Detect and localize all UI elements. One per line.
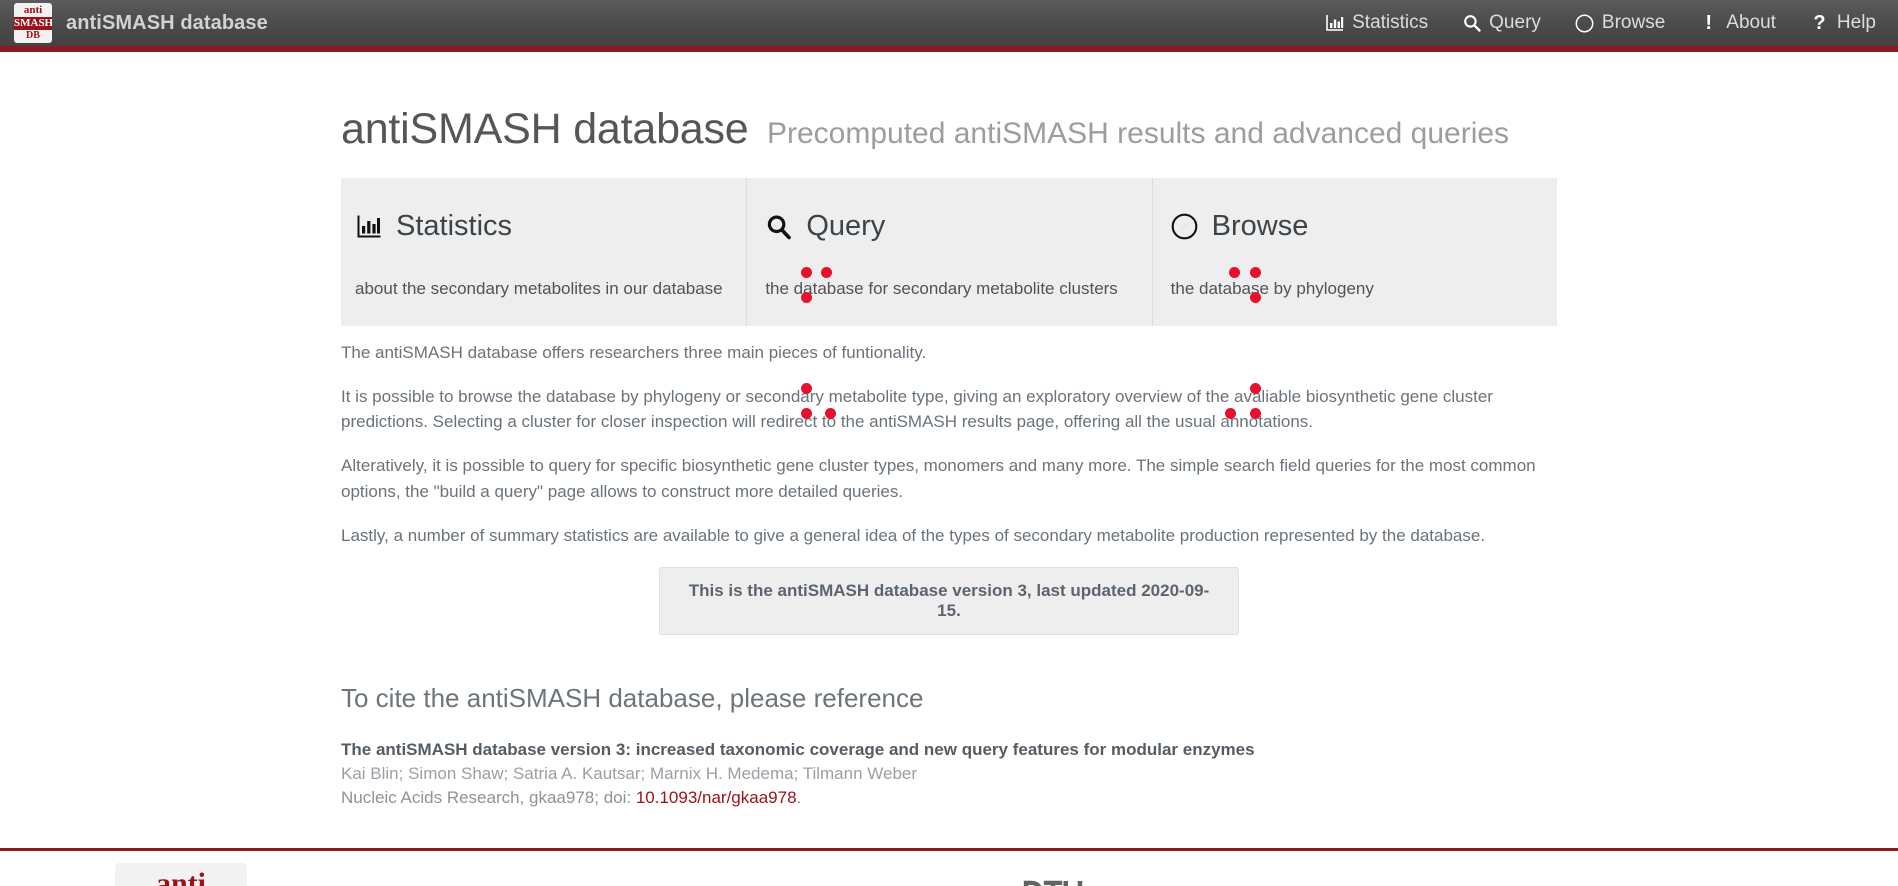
- panel-browse-title: Browse: [1212, 210, 1309, 243]
- panel-query[interactable]: Query the database for secondary metabol…: [746, 178, 1151, 326]
- nav-item-browse[interactable]: Browse: [1575, 12, 1665, 34]
- footer-logo-line-anti: anti: [115, 863, 247, 886]
- panel-browse[interactable]: Browse the database by phylogeny: [1152, 178, 1557, 326]
- citation-block: To cite the antiSMASH database, please r…: [341, 683, 1557, 808]
- citation-authors: Kai Blin; Simon Shaw; Satria A. Kautsar;…: [341, 764, 1557, 784]
- footer-partner-logos: DTU crb: [1015, 877, 1270, 886]
- crb-logo-icon: [1146, 881, 1270, 886]
- page-title: antiSMASH database: [341, 105, 749, 153]
- search-icon: [1462, 14, 1481, 33]
- citation-heading: To cite the antiSMASH database, please r…: [341, 683, 1557, 714]
- panel-query-desc: the database for secondary metabolite cl…: [765, 279, 1151, 299]
- navbar-menu: Statistics Query Browse ! About ? Help: [1325, 12, 1876, 34]
- compass-icon: [1171, 213, 1199, 241]
- nav-item-about[interactable]: ! About: [1699, 12, 1776, 34]
- panel-query-title: Query: [806, 210, 885, 243]
- navbar-brand-group: anti SMASH DB antiSMASH database: [14, 3, 268, 43]
- navbar-brand-title[interactable]: antiSMASH database: [66, 12, 268, 35]
- intro-paragraph-3: Alteratively, it is possible to query fo…: [341, 453, 1536, 503]
- content-container: antiSMASH database Precomputed antiSMASH…: [341, 52, 1557, 808]
- panel-statistics-title: Statistics: [396, 210, 512, 243]
- page-title-block: antiSMASH database Precomputed antiSMASH…: [341, 52, 1557, 170]
- antismash-db-logo[interactable]: anti SMASH DB: [14, 3, 52, 43]
- dtu-logo-text: DTU: [1022, 877, 1084, 886]
- nav-label-help: Help: [1837, 12, 1876, 34]
- page-body: antiSMASH database Precomputed antiSMASH…: [0, 52, 1898, 808]
- nav-item-query[interactable]: Query: [1462, 12, 1541, 34]
- feature-panels: Statistics about the secondary metabolit…: [341, 178, 1557, 326]
- bar-chart-icon: [1325, 14, 1344, 33]
- nav-label-statistics: Statistics: [1352, 12, 1428, 34]
- panel-query-heading: Query: [765, 210, 1151, 243]
- intro-paragraph-2: It is possible to browse the database by…: [341, 384, 1536, 434]
- nav-label-about: About: [1726, 12, 1776, 34]
- footer-antismash-logo[interactable]: anti SMASH: [115, 863, 247, 886]
- bar-chart-icon: [355, 213, 383, 241]
- panel-browse-heading: Browse: [1171, 210, 1557, 243]
- logo-line-db: DB: [26, 30, 40, 42]
- crb-logo[interactable]: crb: [1146, 881, 1270, 886]
- dtu-logo[interactable]: DTU: [1015, 877, 1090, 886]
- footer-inner: anti SMASH If you have found the antiSMA…: [109, 851, 1789, 886]
- panel-statistics-heading: Statistics: [355, 210, 746, 243]
- intro-paragraph-1: The antiSMASH database offers researcher…: [341, 340, 1536, 365]
- nav-item-statistics[interactable]: Statistics: [1325, 12, 1428, 34]
- question-mark-icon: ?: [1810, 14, 1829, 33]
- doi-link[interactable]: 10.1093/nar/gkaa978: [636, 788, 797, 807]
- citation-journal-prefix: Nucleic Acids Research, gkaa978; doi:: [341, 788, 636, 807]
- nav-label-query: Query: [1489, 12, 1541, 34]
- feature-panels-wrapper: Statistics about the secondary metabolit…: [341, 178, 1557, 326]
- logo-line-smash: SMASH: [14, 17, 52, 30]
- citation-paper-title: The antiSMASH database version 3: increa…: [341, 740, 1557, 760]
- panel-browse-desc: the database by phylogeny: [1171, 279, 1557, 299]
- citation-journal: Nucleic Acids Research, gkaa978; doi: 10…: [341, 788, 1557, 808]
- logo-line-anti: anti: [24, 4, 42, 17]
- exclamation-icon: !: [1699, 14, 1718, 33]
- nav-label-browse: Browse: [1602, 12, 1665, 34]
- intro-paragraph-4: Lastly, a number of summary statistics a…: [341, 523, 1536, 548]
- compass-icon: [1575, 14, 1594, 33]
- panel-statistics-desc: about the secondary metabolites in our d…: [355, 279, 746, 299]
- intro-text-block: The antiSMASH database offers researcher…: [341, 326, 1557, 548]
- panel-statistics[interactable]: Statistics about the secondary metabolit…: [341, 178, 746, 326]
- page-subtitle: Precomputed antiSMASH results and advanc…: [767, 117, 1509, 150]
- nav-item-help[interactable]: ? Help: [1810, 12, 1876, 34]
- search-icon: [765, 213, 793, 241]
- version-alert: This is the antiSMASH database version 3…: [659, 567, 1239, 635]
- page-footer: anti SMASH If you have found the antiSMA…: [0, 848, 1898, 886]
- top-navbar: anti SMASH DB antiSMASH database Statist…: [0, 0, 1898, 52]
